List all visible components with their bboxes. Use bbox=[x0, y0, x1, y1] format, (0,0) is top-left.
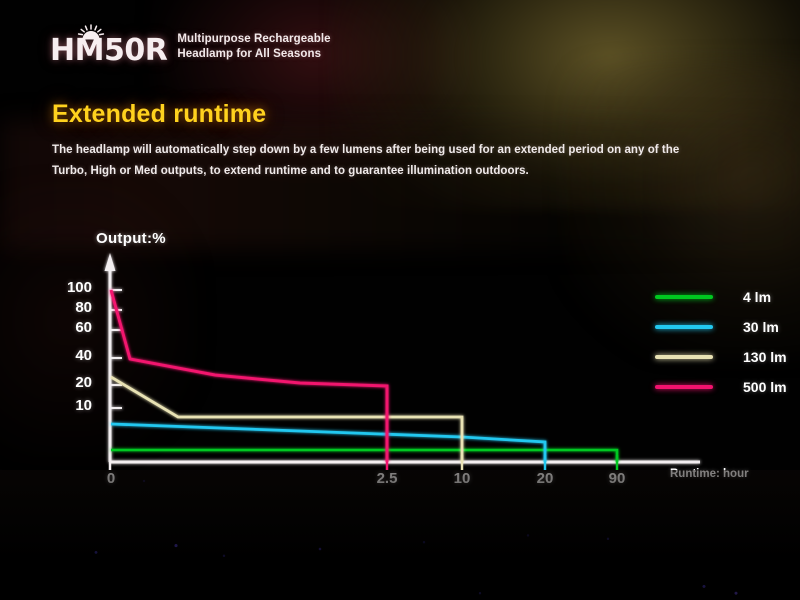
legend-label-30lm: 30 lm bbox=[743, 319, 779, 335]
chart-y-axis-title: Output:% bbox=[96, 230, 166, 247]
y-tick-label-10: 10 bbox=[46, 397, 92, 414]
runtime-chart: Output:% 100 80 60 40 20 10 0 2.5 10 20 … bbox=[0, 0, 800, 600]
x-tick-label-20: 20 bbox=[515, 470, 575, 487]
y-tick-label-100: 100 bbox=[46, 279, 92, 296]
y-tick-label-20: 20 bbox=[46, 374, 92, 391]
chart-x-axis-title: Runtime: hour bbox=[670, 468, 749, 480]
series-line-4lm bbox=[111, 450, 617, 462]
y-tick-label-60: 60 bbox=[46, 319, 92, 336]
legend-swatch-30lm bbox=[655, 325, 713, 329]
series-line-500lm bbox=[111, 290, 387, 462]
x-tick-label-2.5: 2.5 bbox=[357, 470, 417, 487]
legend-label-500lm: 500 lm bbox=[743, 379, 787, 395]
legend-label-4lm: 4 lm bbox=[743, 289, 771, 305]
x-tick-label-90: 90 bbox=[587, 470, 647, 487]
legend-item-4lm: 4 lm bbox=[655, 282, 787, 312]
chart-legend: 4 lm 30 lm 130 lm 500 lm bbox=[655, 282, 787, 402]
legend-item-30lm: 30 lm bbox=[655, 312, 787, 342]
slide-photo: HM50R Multipurpose Rechargeable Headlamp… bbox=[0, 0, 800, 600]
chart-axes bbox=[105, 253, 701, 462]
x-tick-label-0: 0 bbox=[81, 470, 141, 487]
legend-swatch-130lm bbox=[655, 355, 713, 359]
legend-item-130lm: 130 lm bbox=[655, 342, 787, 372]
series-line-30lm bbox=[111, 424, 545, 462]
legend-item-500lm: 500 lm bbox=[655, 372, 787, 402]
y-tick-label-40: 40 bbox=[46, 347, 92, 364]
legend-label-130lm: 130 lm bbox=[743, 349, 787, 365]
x-tick-label-10: 10 bbox=[432, 470, 492, 487]
legend-swatch-4lm bbox=[655, 295, 713, 299]
y-tick-label-80: 80 bbox=[46, 299, 92, 316]
legend-swatch-500lm bbox=[655, 385, 713, 389]
